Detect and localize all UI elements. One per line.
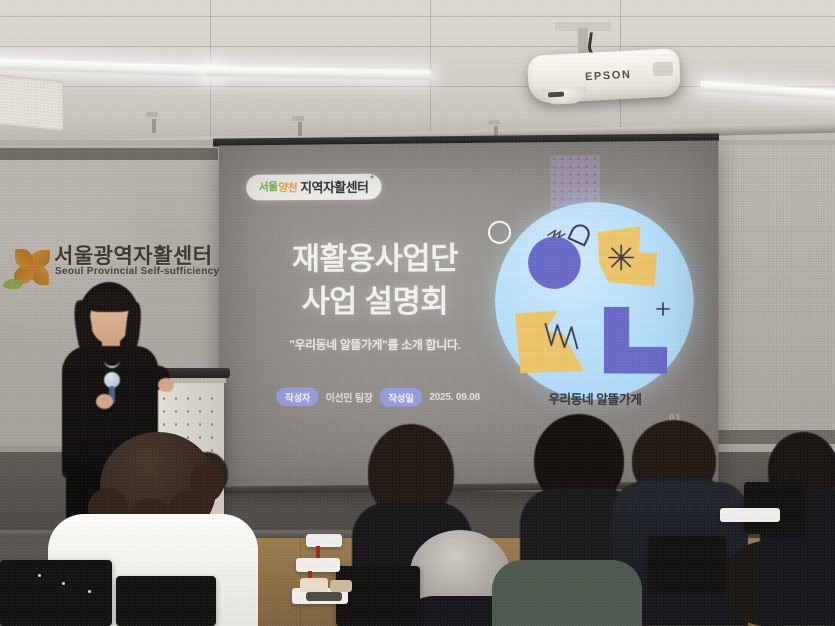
chair	[116, 576, 216, 626]
chair	[336, 566, 420, 626]
presenter-hand-right	[158, 378, 174, 392]
snack-item	[330, 580, 352, 592]
chair-tablet-arm	[306, 534, 342, 547]
rail-hanger	[298, 122, 302, 136]
chair-tablet-arm	[296, 558, 340, 572]
presenter-hand-left	[96, 394, 113, 409]
presenter-fringe	[86, 290, 134, 312]
snack-item	[306, 592, 342, 601]
wall-trim-band	[0, 148, 218, 160]
rail-cap	[488, 120, 500, 125]
audience-member	[492, 560, 642, 626]
rail-cap	[146, 112, 158, 117]
chair-tablet-arm	[720, 508, 780, 522]
projector-badge	[653, 61, 674, 76]
projector-foot	[548, 92, 564, 98]
projector-brand-label: EPSON	[585, 69, 632, 83]
presenter-necklace	[104, 352, 120, 368]
chair	[648, 536, 726, 592]
lecture-room-photo: EPSON 서울광역자활센터 Seoul Provincial Self-suf…	[0, 0, 835, 626]
ceiling-speaker-icon	[0, 74, 64, 131]
rail-cap	[292, 116, 304, 121]
rail-hanger	[152, 119, 156, 133]
snack-item	[300, 578, 328, 592]
chair	[0, 560, 112, 626]
